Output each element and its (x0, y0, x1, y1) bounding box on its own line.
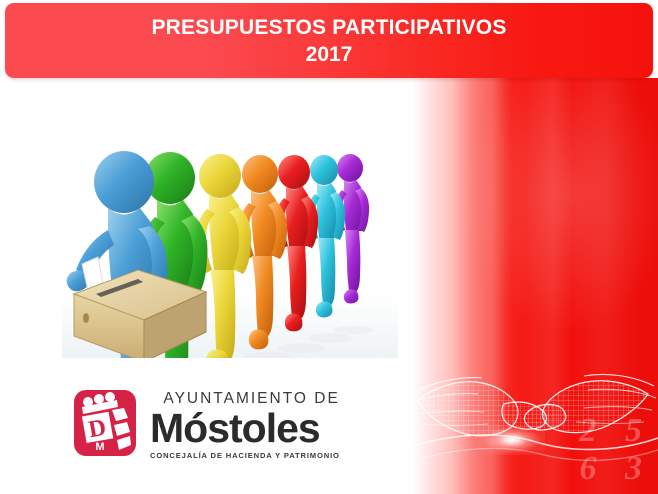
logo-line-concejalia: CONCEJALÍA DE HACIENDA Y PATRIMONIO (150, 451, 340, 461)
svg-text:M: M (95, 441, 104, 453)
presentation-slide: 2 5 6 3 (0, 0, 658, 494)
mostoles-logo-text: AYUNTAMIENTO DE Móstoles CONCEJALÍA DE H… (150, 388, 340, 461)
logo-line-mostoles: Móstoles (150, 407, 340, 449)
mostoles-shield-icon: D M (72, 388, 138, 458)
slide-title-banner: PRESUPUESTOS PARTICIPATIVOS 2017 (5, 3, 653, 78)
banner-year: 2017 (306, 41, 353, 68)
mostoles-logo: D M AYUNTAMIENTO DE Móstoles CONCEJALÍA … (72, 388, 384, 468)
voting-queue-illustration (62, 122, 398, 358)
banner-title: PRESUPUESTOS PARTICIPATIVOS (151, 14, 506, 41)
